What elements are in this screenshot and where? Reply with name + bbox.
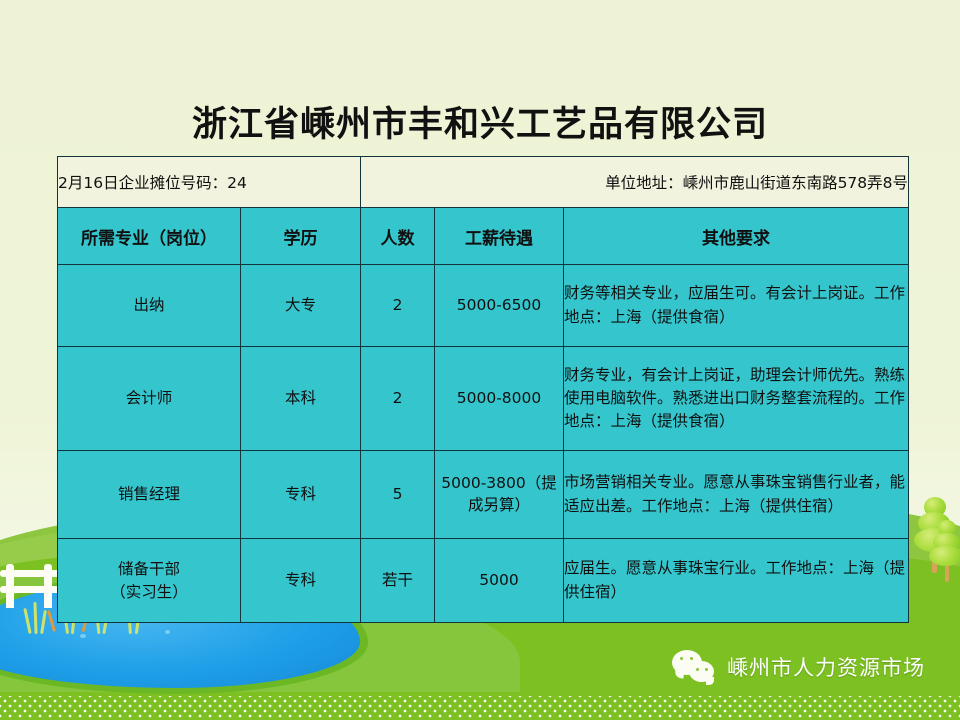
pond-sparkle [165,630,170,634]
cell-count: 2 [361,265,435,347]
column-header-other: 其他要求 [564,208,909,265]
page-title: 浙江省嵊州市丰和兴工艺品有限公司 [0,96,960,147]
cell-other: 市场营销相关专业。愿意从事珠宝销售行业者，能适应出差。工作地点：上海（提供住宿） [564,451,909,539]
pond-sparkle [80,634,86,638]
cell-pay: 5000-6500 [435,265,564,347]
cell-education: 本科 [241,347,361,451]
wechat-icon [672,650,718,684]
fence-post [6,564,14,608]
cell-other: 财务等相关专业，应届生可。有会计上岗证。工作地点：上海（提供食宿） [564,265,909,347]
table-row: 储备干部 （实习生） 专科 若干 5000 应届生。愿意从事珠宝行业。工作地点：… [58,539,909,623]
cell-position-line1: 储备干部 [58,558,240,580]
grass-blade-dry [47,610,56,632]
column-header-position: 所需专业（岗位） [58,208,241,265]
cell-position: 储备干部 （实习生） [58,539,241,623]
cell-count: 5 [361,451,435,539]
slide-canvas: 浙江省嵊州市丰和兴工艺品有限公司 2月16日企业摊位号码：24 单位地址：嵊州市… [0,0,960,720]
grass-blade [23,608,31,634]
wechat-brand-footer: 嵊州市人力资源市场 [672,650,925,684]
tree-right-front [928,520,960,582]
column-header-count: 人数 [361,208,435,265]
cell-pay: 5000-8000 [435,347,564,451]
company-address-cell: 单位地址：嵊州市鹿山街道东南路578弄8号 [361,157,909,208]
column-header-education: 学历 [241,208,361,265]
bottom-dot-pattern [0,696,960,718]
cell-education: 专科 [241,451,361,539]
cell-position: 会计师 [58,347,241,451]
bottom-green-strip [0,694,960,720]
table-header-row: 所需专业（岗位） 学历 人数 工薪待遇 其他要求 [58,208,909,265]
cell-pay: 5000 [435,539,564,623]
fence-post [44,564,52,608]
cell-other: 财务专业，有会计上岗证，助理会计师优先。熟练使用电脑软件。熟悉进出口财务整套流程… [564,347,909,451]
cell-position: 出纳 [58,265,241,347]
cell-education: 专科 [241,539,361,623]
table-row: 销售经理 专科 5 5000-3800（提成另算） 市场营销相关专业。愿意从事珠… [58,451,909,539]
wechat-brand-label: 嵊州市人力资源市场 [727,652,925,682]
wechat-bubble-large-tail [674,668,684,678]
table-meta-row: 2月16日企业摊位号码：24 单位地址：嵊州市鹿山街道东南路578弄8号 [58,157,909,208]
table-row: 会计师 本科 2 5000-8000 财务专业，有会计上岗证，助理会计师优先。熟… [58,347,909,451]
cell-position-line2: （实习生） [58,581,240,603]
cell-count: 若干 [361,539,435,623]
cell-pay: 5000-3800（提成另算） [435,451,564,539]
tree-foliage [929,546,960,566]
cell-education: 大专 [241,265,361,347]
wechat-bubble-small-tail [706,677,714,685]
grass-blade [40,610,47,634]
booth-number-cell: 2月16日企业摊位号码：24 [58,157,361,208]
cell-other: 应届生。愿意从事珠宝行业。工作地点：上海（提供住宿） [564,539,909,623]
grass-blade [33,602,37,634]
column-header-pay: 工薪待遇 [435,208,564,265]
cell-count: 2 [361,347,435,451]
table-row: 出纳 大专 2 5000-6500 财务等相关专业，应届生可。有会计上岗证。工作… [58,265,909,347]
job-listing-table: 2月16日企业摊位号码：24 单位地址：嵊州市鹿山街道东南路578弄8号 所需专… [57,156,909,623]
cell-position: 销售经理 [58,451,241,539]
